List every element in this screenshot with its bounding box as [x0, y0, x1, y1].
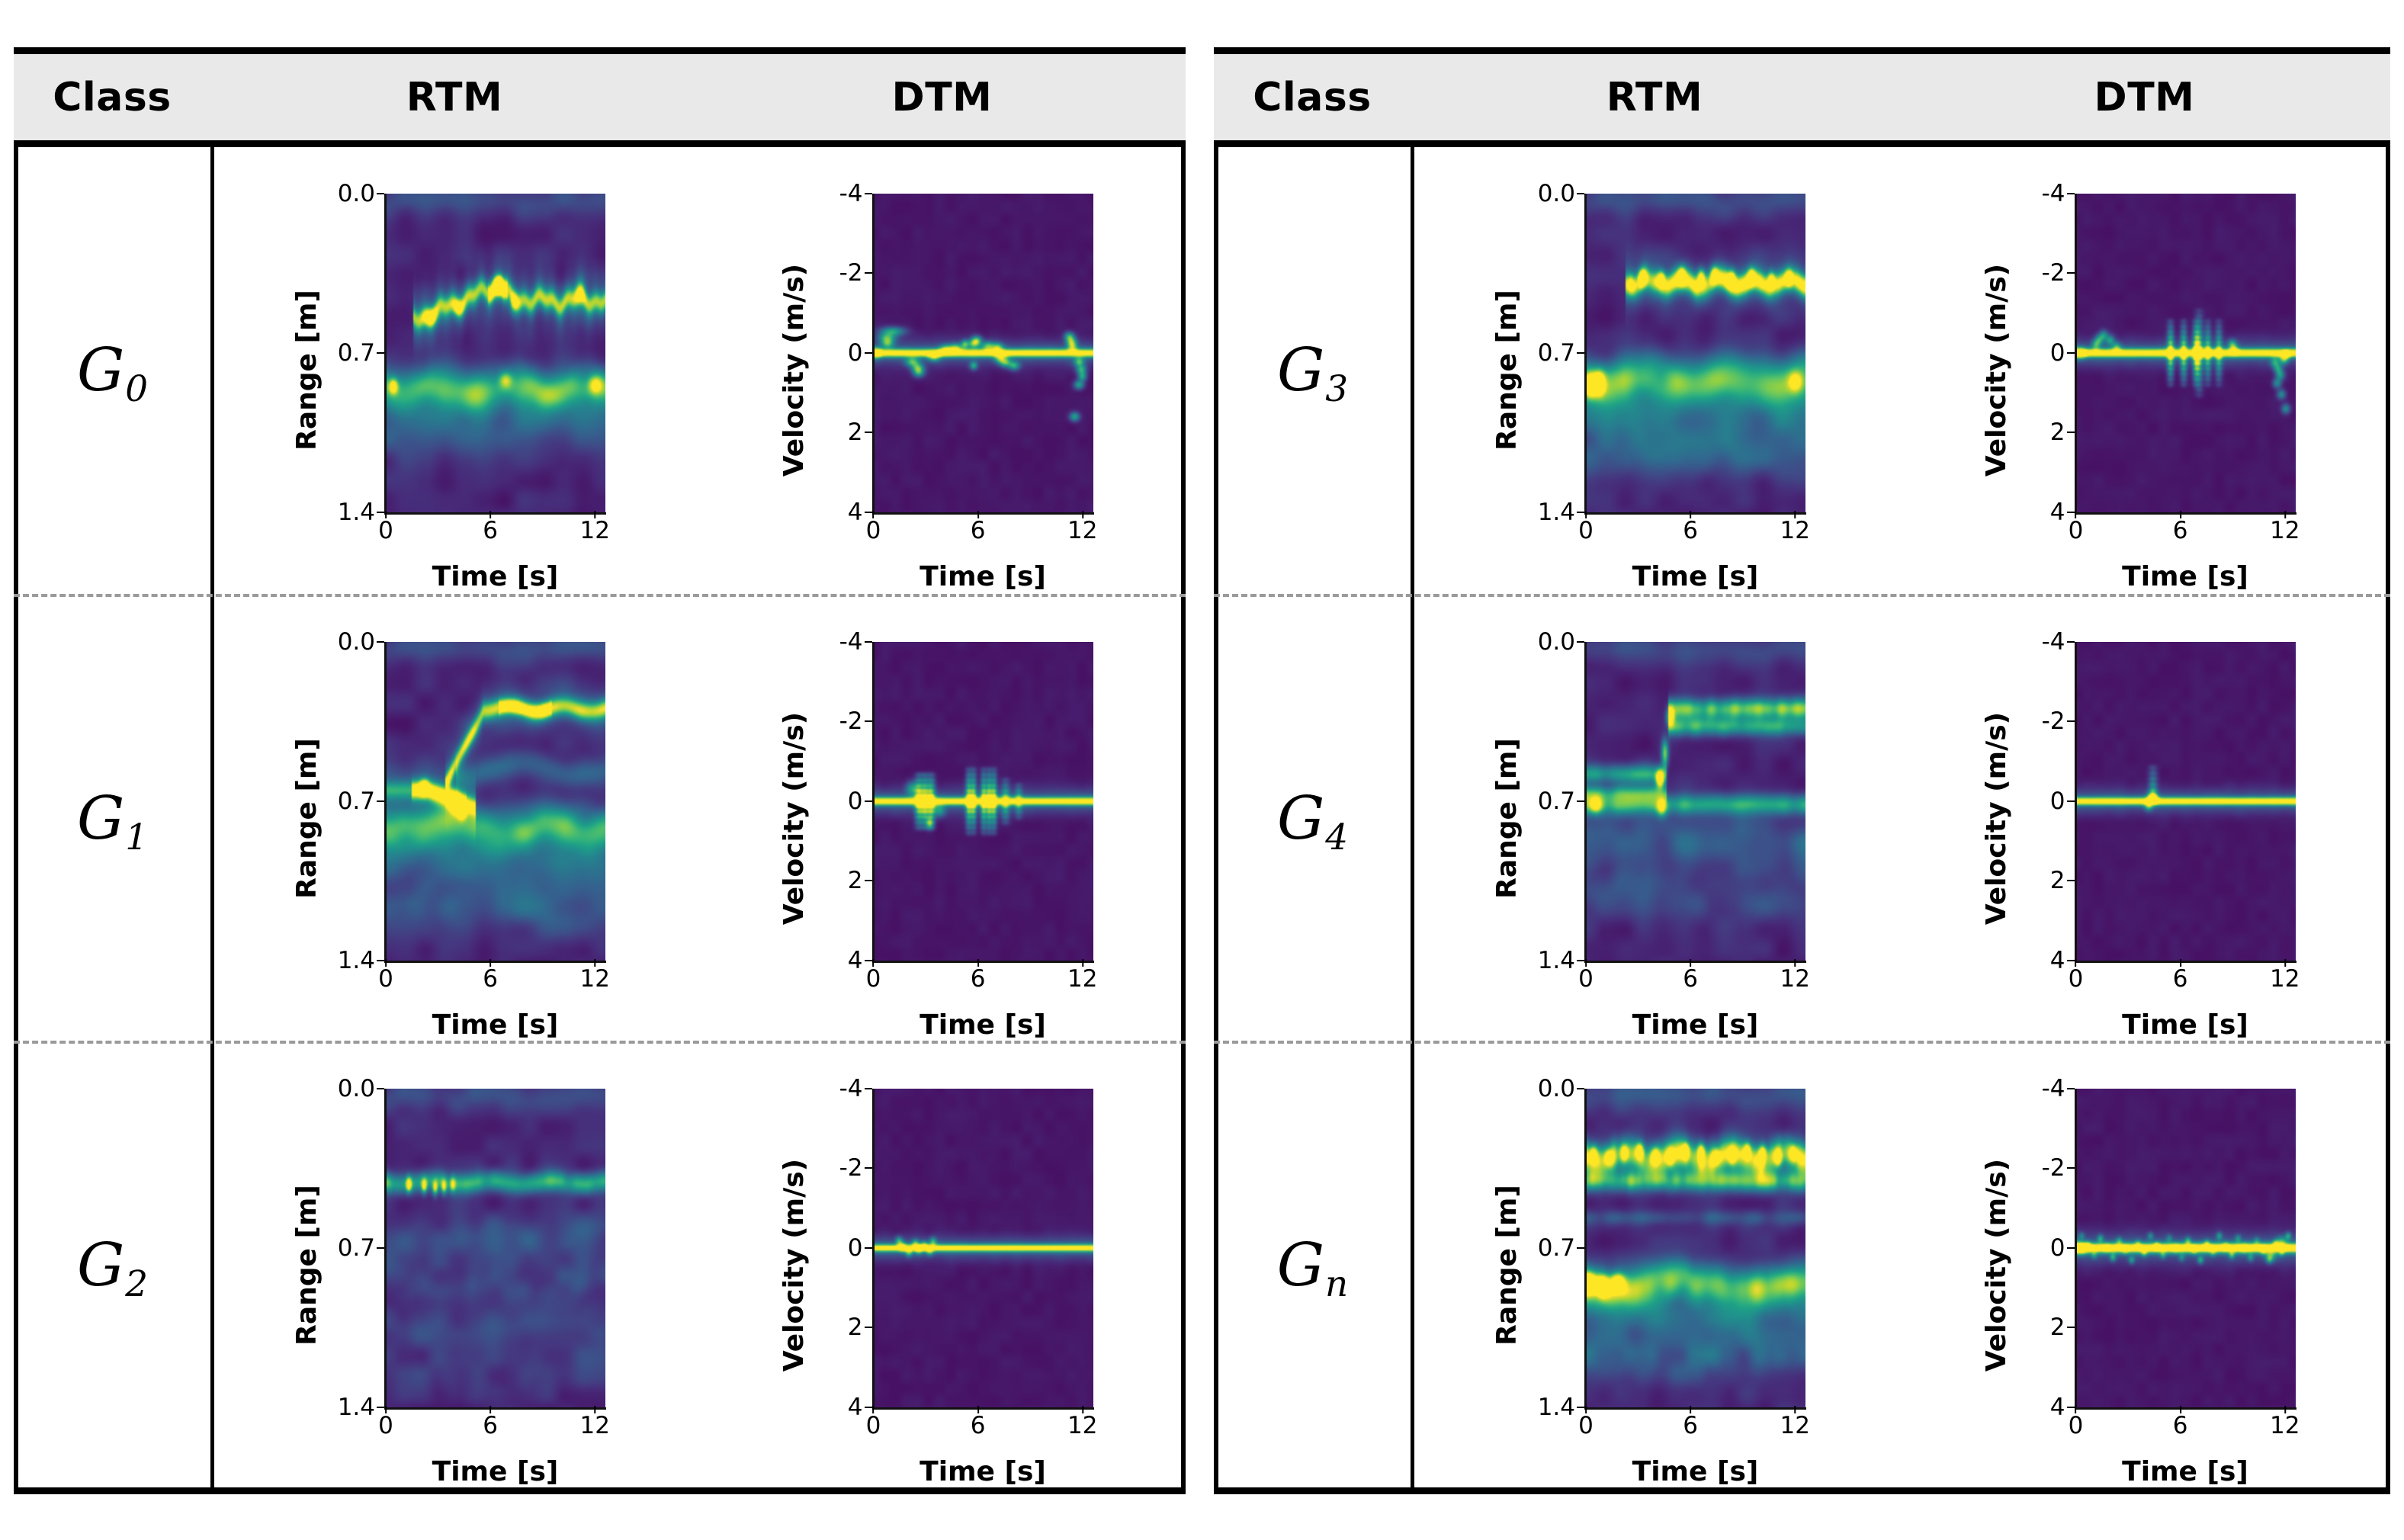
dtm-G3-ytick: -2: [2042, 259, 2075, 287]
rtm-G3-xtick: 6: [1683, 517, 1698, 544]
rtm-Gn-canvas: [1586, 1089, 1805, 1407]
axis-spine-bottom: [384, 512, 606, 515]
rtm-G4-ytick: 1.4: [1538, 947, 1584, 974]
header-dtm-header: DTM: [698, 54, 1186, 140]
rtm-G3-heatmap: [1586, 194, 1805, 512]
dtm-G2-xtick: 12: [1067, 1412, 1097, 1439]
axis-spine-left: [2075, 1089, 2077, 1407]
rtm-cell: Range [m]0.00.71.40612Time [s]: [1411, 1044, 1898, 1487]
rtm-G0-heatmap: [386, 194, 605, 512]
dtm-G2: Velocity (m/s)-4-20240612Time [s]: [782, 1075, 1103, 1456]
class-label: G0: [77, 341, 147, 400]
rtm-G0: Range [m]0.00.71.40612Time [s]: [294, 180, 615, 561]
rtm-cell: Range [m]0.00.71.40612Time [s]: [210, 1044, 698, 1487]
dtm-G0-canvas: [874, 194, 1093, 512]
dtm-G3-canvas: [2076, 194, 2296, 512]
dtm-G3-xtick: 6: [2173, 517, 2188, 544]
dtm-Gn-xlabel: Time [s]: [2075, 1456, 2296, 1487]
axis-spine-left: [872, 1089, 875, 1407]
rtm-G0-ytick: 1.4: [338, 499, 384, 526]
rtm-G3-xtick: 12: [1780, 517, 1810, 544]
dtm-Gn-xtick: 12: [2270, 1412, 2300, 1439]
rtm-G4-heatmap: [1586, 642, 1805, 961]
rtm-G2-ytick: 0.0: [338, 1075, 384, 1102]
rtm-G0-ytick: 0.0: [338, 180, 384, 207]
dtm-G3: Velocity (m/s)-4-20240612Time [s]: [1985, 180, 2305, 561]
dtm-Gn-ytick: -4: [2042, 1075, 2075, 1102]
dtm-G2-canvas: [874, 1089, 1093, 1407]
dtm-G1-ytick: -4: [839, 628, 872, 656]
dtm-G4-heatmap: [2076, 642, 2296, 961]
rtm-G4-ylabel: Range [m]: [1490, 628, 1523, 1009]
axis-spine-left: [1584, 1089, 1587, 1407]
table-body-right: G3Range [m]0.00.71.40612Time [s]Velocity…: [1214, 147, 2390, 1487]
dtm-G0-ytick: 2: [848, 419, 872, 446]
class-cell: G0: [14, 147, 210, 594]
rtm-Gn-xtick: 0: [1578, 1412, 1594, 1439]
dtm-G2-ytick: -4: [839, 1075, 872, 1102]
rtm-G0-xtick: 12: [580, 517, 610, 544]
axis-spine-bottom: [872, 961, 1094, 963]
class-label: G3: [1277, 341, 1347, 400]
rtm-G1: Range [m]0.00.71.40612Time [s]: [294, 628, 615, 1009]
rtm-G4-xtick: 6: [1683, 965, 1698, 993]
rtm-G2-ytick: 1.4: [338, 1394, 384, 1421]
dtm-G1-heatmap: [874, 642, 1093, 961]
dtm-cell: Velocity (m/s)-4-20240612Time [s]: [698, 1044, 1186, 1487]
dtm-G4-xtick: 12: [2270, 965, 2300, 993]
table-row: G1Range [m]0.00.71.40612Time [s]Velocity…: [14, 594, 1186, 1041]
class-label: G1: [77, 789, 147, 849]
dtm-G3-ylabel: Velocity (m/s): [1980, 180, 2014, 561]
rtm-G2-canvas: [386, 1089, 605, 1407]
axis-spine-bottom: [1584, 512, 1806, 515]
rtm-Gn-ylabel: Range [m]: [1490, 1075, 1523, 1456]
dtm-G4-xlabel: Time [s]: [2075, 1009, 2296, 1041]
dtm-G3-xlabel: Time [s]: [2075, 561, 2296, 592]
dtm-G2-heatmap: [874, 1089, 1093, 1407]
class-subscript: 2: [125, 1264, 148, 1305]
table-half-right: ClassRTMDTMG3Range [m]0.00.71.40612Time …: [1214, 47, 2390, 1494]
axis-spine-left: [384, 1089, 387, 1407]
dtm-G3-ytick: 2: [2050, 419, 2075, 446]
rtm-G4: Range [m]0.00.71.40612Time [s]: [1494, 628, 1815, 1009]
class-cell: G3: [1214, 147, 1411, 594]
axis-spine-left: [384, 194, 387, 512]
rtm-G1-xtick: 12: [580, 965, 610, 993]
rtm-Gn-xtick: 6: [1683, 1412, 1698, 1439]
dtm-G1-xtick: 12: [1067, 965, 1097, 993]
class-subscript: 3: [1325, 369, 1348, 410]
class-subscript: 1: [125, 817, 148, 858]
rtm-G2-ylabel: Range [m]: [290, 1075, 323, 1456]
table-row: G4Range [m]0.00.71.40612Time [s]Velocity…: [1214, 594, 2390, 1041]
dtm-G4: Velocity (m/s)-4-20240612Time [s]: [1985, 628, 2305, 1009]
rtm-G1-ylabel: Range [m]: [290, 628, 323, 1009]
rtm-G3: Range [m]0.00.71.40612Time [s]: [1494, 180, 1815, 561]
class-label: G4: [1277, 789, 1347, 849]
dtm-Gn-xtick: 0: [2069, 1412, 2084, 1439]
dtm-G3-heatmap: [2076, 194, 2296, 512]
rtm-cell: Range [m]0.00.71.40612Time [s]: [1411, 147, 1898, 594]
rtm-G3-xtick: 0: [1578, 517, 1594, 544]
dtm-G0-ytick: -2: [839, 259, 872, 287]
axis-spine-bottom: [1584, 1407, 1806, 1410]
dtm-Gn-ytick: -2: [2042, 1154, 2075, 1182]
rtm-G3-ytick: 0.7: [1538, 339, 1584, 367]
dtm-G1: Velocity (m/s)-4-20240612Time [s]: [782, 628, 1103, 1009]
dtm-cell: Velocity (m/s)-4-20240612Time [s]: [1898, 1044, 2390, 1487]
dtm-G0-ytick: 0: [848, 339, 872, 367]
axis-spine-left: [1584, 642, 1587, 961]
dtm-Gn: Velocity (m/s)-4-20240612Time [s]: [1985, 1075, 2305, 1456]
dtm-cell: Velocity (m/s)-4-20240612Time [s]: [698, 147, 1186, 594]
dtm-G4-canvas: [2076, 642, 2296, 961]
axis-spine-bottom: [384, 1407, 606, 1410]
rtm-Gn-xlabel: Time [s]: [1584, 1456, 1806, 1487]
dtm-cell: Velocity (m/s)-4-20240612Time [s]: [698, 597, 1186, 1041]
rtm-Gn-ytick: 1.4: [1538, 1394, 1584, 1421]
rtm-G1-ytick: 0.0: [338, 628, 384, 656]
dtm-G1-xtick: 6: [971, 965, 986, 993]
axis-spine-left: [2075, 642, 2077, 961]
class-subscript: 0: [125, 369, 148, 410]
dtm-G2-xlabel: Time [s]: [872, 1456, 1094, 1487]
dtm-G1-ytick: -2: [839, 707, 872, 735]
rtm-G3-ylabel: Range [m]: [1490, 180, 1523, 561]
rtm-G4-canvas: [1586, 642, 1805, 961]
dtm-G0: Velocity (m/s)-4-20240612Time [s]: [782, 180, 1103, 561]
dtm-G4-ytick: 0: [2050, 788, 2075, 815]
axis-spine-left: [1584, 194, 1587, 512]
class-cell: G4: [1214, 597, 1411, 1041]
class-label: Gn: [1277, 1236, 1347, 1295]
rtm-G2-xtick: 6: [483, 1412, 498, 1439]
dtm-Gn-ytick: 2: [2050, 1314, 2075, 1341]
class-label: G2: [77, 1236, 147, 1295]
rtm-Gn-ytick: 0.0: [1538, 1075, 1584, 1102]
rtm-Gn-xtick: 12: [1780, 1412, 1810, 1439]
rtm-G0-xtick: 0: [378, 517, 393, 544]
table-row: G3Range [m]0.00.71.40612Time [s]Velocity…: [1214, 147, 2390, 594]
dtm-G0-ytick: -4: [839, 180, 872, 207]
dtm-G0-heatmap: [874, 194, 1093, 512]
rtm-G2: Range [m]0.00.71.40612Time [s]: [294, 1075, 615, 1456]
dtm-G0-ylabel: Velocity (m/s): [778, 180, 811, 561]
dtm-G4-ylabel: Velocity (m/s): [1980, 628, 2014, 1009]
rtm-Gn: Range [m]0.00.71.40612Time [s]: [1494, 1075, 1815, 1456]
rtm-cell: Range [m]0.00.71.40612Time [s]: [1411, 597, 1898, 1041]
axis-spine-bottom: [2075, 961, 2296, 963]
rtm-cell: Range [m]0.00.71.40612Time [s]: [210, 147, 698, 594]
dtm-cell: Velocity (m/s)-4-20240612Time [s]: [1898, 597, 2390, 1041]
rtm-G0-xtick: 6: [483, 517, 498, 544]
dtm-G1-xtick: 0: [866, 965, 881, 993]
table-row: GnRange [m]0.00.71.40612Time [s]Velocity…: [1214, 1041, 2390, 1487]
dtm-G0-xlabel: Time [s]: [872, 561, 1094, 592]
dtm-G2-xtick: 6: [971, 1412, 986, 1439]
dtm-G0-xtick: 12: [1067, 517, 1097, 544]
rtm-G4-xtick: 0: [1578, 965, 1594, 993]
rtm-G3-ytick: 1.4: [1538, 499, 1584, 526]
class-cell: G2: [14, 1044, 210, 1487]
dtm-Gn-canvas: [2076, 1089, 2296, 1407]
rtm-G0-xlabel: Time [s]: [384, 561, 606, 592]
dtm-G1-ytick: 0: [848, 788, 872, 815]
table-row: G2Range [m]0.00.71.40612Time [s]Velocity…: [14, 1041, 1186, 1487]
header-rtm-header: RTM: [1411, 54, 1898, 140]
dtm-G2-ytick: 2: [848, 1314, 872, 1341]
rtm-G2-xlabel: Time [s]: [384, 1456, 606, 1487]
class-cell: Gn: [1214, 1044, 1411, 1487]
dtm-G1-xlabel: Time [s]: [872, 1009, 1094, 1041]
axis-spine-bottom: [872, 512, 1094, 515]
dtm-G3-ytick: -4: [2042, 180, 2075, 207]
rtm-G3-ytick: 0.0: [1538, 180, 1584, 207]
dtm-Gn-ylabel: Velocity (m/s): [1980, 1075, 2014, 1456]
rtm-G1-heatmap: [386, 642, 605, 961]
rtm-G1-xlabel: Time [s]: [384, 1009, 606, 1041]
rtm-G1-xtick: 6: [483, 965, 498, 993]
class-cell: G1: [14, 597, 210, 1041]
dtm-G3-ytick: 0: [2050, 339, 2075, 367]
rtm-Gn-ytick: 0.7: [1538, 1234, 1584, 1262]
table-half-left: ClassRTMDTMG0Range [m]0.00.71.40612Time …: [14, 47, 1186, 1494]
class-subscript: n: [1325, 1264, 1348, 1305]
dtm-G4-ytick: -4: [2042, 628, 2075, 656]
dtm-G0-xtick: 6: [971, 517, 986, 544]
axis-spine-bottom: [2075, 512, 2296, 515]
table-row: G0Range [m]0.00.71.40612Time [s]Velocity…: [14, 147, 1186, 594]
axis-spine-left: [384, 642, 387, 961]
header-class-header: Class: [1214, 54, 1411, 140]
dtm-G1-ytick: 2: [848, 867, 872, 894]
dtm-Gn-ytick: 0: [2050, 1234, 2075, 1262]
dtm-cell: Velocity (m/s)-4-20240612Time [s]: [1898, 147, 2390, 594]
rtm-G3-xlabel: Time [s]: [1584, 561, 1806, 592]
axis-spine-left: [872, 194, 875, 512]
axis-spine-bottom: [872, 1407, 1094, 1410]
dtm-G3-xtick: 0: [2069, 517, 2084, 544]
rtm-G2-heatmap: [386, 1089, 605, 1407]
class-subscript: 4: [1325, 817, 1348, 858]
dtm-G3-xtick: 12: [2270, 517, 2300, 544]
dtm-G0-xtick: 0: [866, 517, 881, 544]
rtm-G4-ytick: 0.0: [1538, 628, 1584, 656]
rtm-Gn-heatmap: [1586, 1089, 1805, 1407]
axis-spine-bottom: [2075, 1407, 2296, 1410]
rtm-G0-ytick: 0.7: [338, 339, 384, 367]
rtm-G1-ytick: 1.4: [338, 947, 384, 974]
header-rtm-header: RTM: [210, 54, 698, 140]
header-class-header: Class: [14, 54, 210, 140]
dtm-G1-canvas: [874, 642, 1093, 961]
dtm-Gn-heatmap: [2076, 1089, 2296, 1407]
dtm-G4-ytick: -2: [2042, 707, 2075, 735]
rtm-G0-ylabel: Range [m]: [290, 180, 323, 561]
rtm-G2-xtick: 0: [378, 1412, 393, 1439]
rtm-cell: Range [m]0.00.71.40612Time [s]: [210, 597, 698, 1041]
rtm-G4-xlabel: Time [s]: [1584, 1009, 1806, 1041]
dtm-G4-xtick: 0: [2069, 965, 2084, 993]
rtm-G4-xtick: 12: [1780, 965, 1810, 993]
rtm-dtm-class-figure: ClassRTMDTMG0Range [m]0.00.71.40612Time …: [0, 0, 2404, 1540]
dtm-G2-ytick: -2: [839, 1154, 872, 1182]
rtm-G1-ytick: 0.7: [338, 788, 384, 815]
dtm-G2-xtick: 0: [866, 1412, 881, 1439]
axis-spine-bottom: [1584, 961, 1806, 963]
rtm-G0-canvas: [386, 194, 605, 512]
dtm-G2-ylabel: Velocity (m/s): [778, 1075, 811, 1456]
axis-spine-left: [872, 642, 875, 961]
table-body-left: G0Range [m]0.00.71.40612Time [s]Velocity…: [14, 147, 1186, 1487]
dtm-G4-xtick: 6: [2173, 965, 2188, 993]
rtm-G1-canvas: [386, 642, 605, 961]
axis-spine-bottom: [384, 961, 606, 963]
dtm-G4-ytick: 2: [2050, 867, 2075, 894]
rtm-G1-xtick: 0: [378, 965, 393, 993]
rtm-G3-canvas: [1586, 194, 1805, 512]
rtm-G4-ytick: 0.7: [1538, 788, 1584, 815]
rtm-G2-xtick: 12: [580, 1412, 610, 1439]
header-dtm-header: DTM: [1898, 54, 2390, 140]
dtm-G2-ytick: 0: [848, 1234, 872, 1262]
axis-spine-left: [2075, 194, 2077, 512]
dtm-Gn-xtick: 6: [2173, 1412, 2188, 1439]
dtm-G1-ylabel: Velocity (m/s): [778, 628, 811, 1009]
rtm-G2-ytick: 0.7: [338, 1234, 384, 1262]
